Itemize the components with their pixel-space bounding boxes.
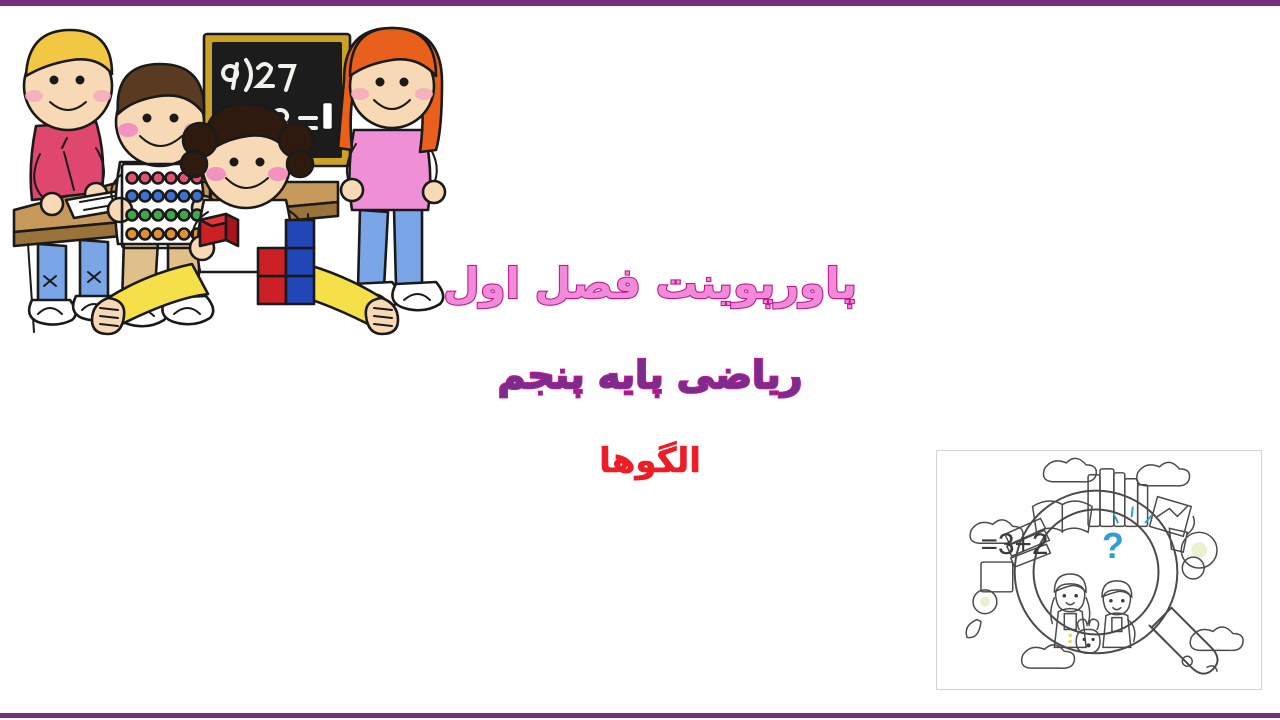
title-line-1: پاورپوینت فصل اول	[440, 262, 860, 306]
title-line-2: ریاضی پایه پنجم	[440, 356, 860, 396]
equation-text: 3+2=	[981, 528, 1049, 561]
title-line-3: الگوها	[440, 444, 860, 480]
slide-canvas: .ol { stroke:#1a1a1a; stroke-width:2.6; …	[0, 0, 1280, 720]
title-block: پاورپوینت فصل اول ریاضی پایه پنجم الگوها	[440, 262, 860, 480]
question-mark-text: ?	[1102, 526, 1124, 566]
child-girl-standing	[338, 28, 445, 310]
bottom-accent-bar	[0, 713, 1280, 718]
red-block-held	[200, 214, 238, 246]
magnifier-clipart-frame: .sk { stroke:#4a4a4a; stroke-width:2; fi…	[936, 450, 1262, 690]
chalk-icon	[322, 102, 333, 130]
classroom-clipart: .ol { stroke:#1a1a1a; stroke-width:2.6; …	[8, 14, 450, 336]
top-accent-bar	[0, 0, 1280, 6]
